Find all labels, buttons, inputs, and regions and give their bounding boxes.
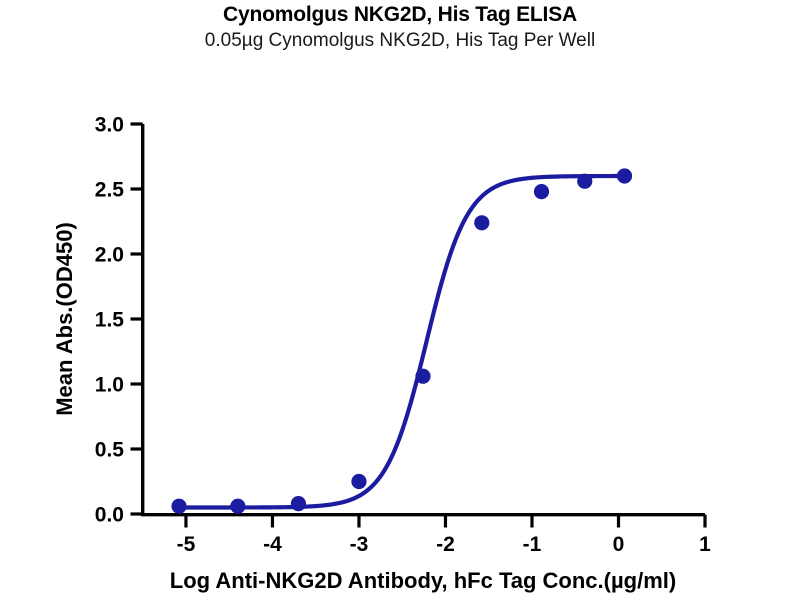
y-tick-label: 1.5 (95, 309, 125, 332)
fit-curve (179, 176, 625, 507)
x-axis-title: Log Anti-NKG2D Antibody, hFc Tag Conc.(µ… (170, 568, 676, 593)
y-tick-label: 0.5 (95, 439, 125, 462)
y-axis-ticks (131, 124, 143, 514)
x-tick-label: -4 (263, 533, 282, 556)
data-point (230, 499, 245, 514)
data-point (291, 496, 306, 511)
x-axis-ticks (186, 515, 705, 528)
x-tick-label: -3 (350, 533, 369, 556)
x-tick-label: 1 (699, 533, 711, 556)
y-tick-label: 2.5 (95, 179, 125, 202)
y-tick-label: 3.0 (95, 114, 124, 137)
data-point (171, 499, 186, 514)
y-tick-label: 2.0 (95, 244, 124, 267)
y-axis-title: Mean Abs.(OD450) (52, 222, 77, 416)
data-point (415, 369, 430, 384)
elisa-chart-figure: Cynomolgus NKG2D, His Tag ELISA 0.05µg C… (0, 0, 800, 600)
x-tick-label: -5 (177, 533, 196, 556)
data-point (617, 168, 632, 183)
plot-area: 0.00.51.01.52.02.53.0 -5-4-3-2-101 Mean … (0, 0, 800, 600)
x-tick-label: -2 (436, 533, 455, 556)
x-tick-label: -1 (523, 533, 542, 556)
data-point (351, 474, 366, 489)
y-axis-tick-labels: 0.00.51.01.52.02.53.0 (95, 114, 125, 527)
y-tick-label: 0.0 (95, 504, 124, 527)
data-point (534, 184, 549, 199)
data-point (577, 174, 592, 189)
x-axis-tick-labels: -5-4-3-2-101 (177, 533, 712, 556)
data-point (474, 215, 489, 230)
x-tick-label: 0 (613, 533, 625, 556)
data-points (171, 168, 632, 513)
y-tick-label: 1.0 (95, 374, 124, 397)
